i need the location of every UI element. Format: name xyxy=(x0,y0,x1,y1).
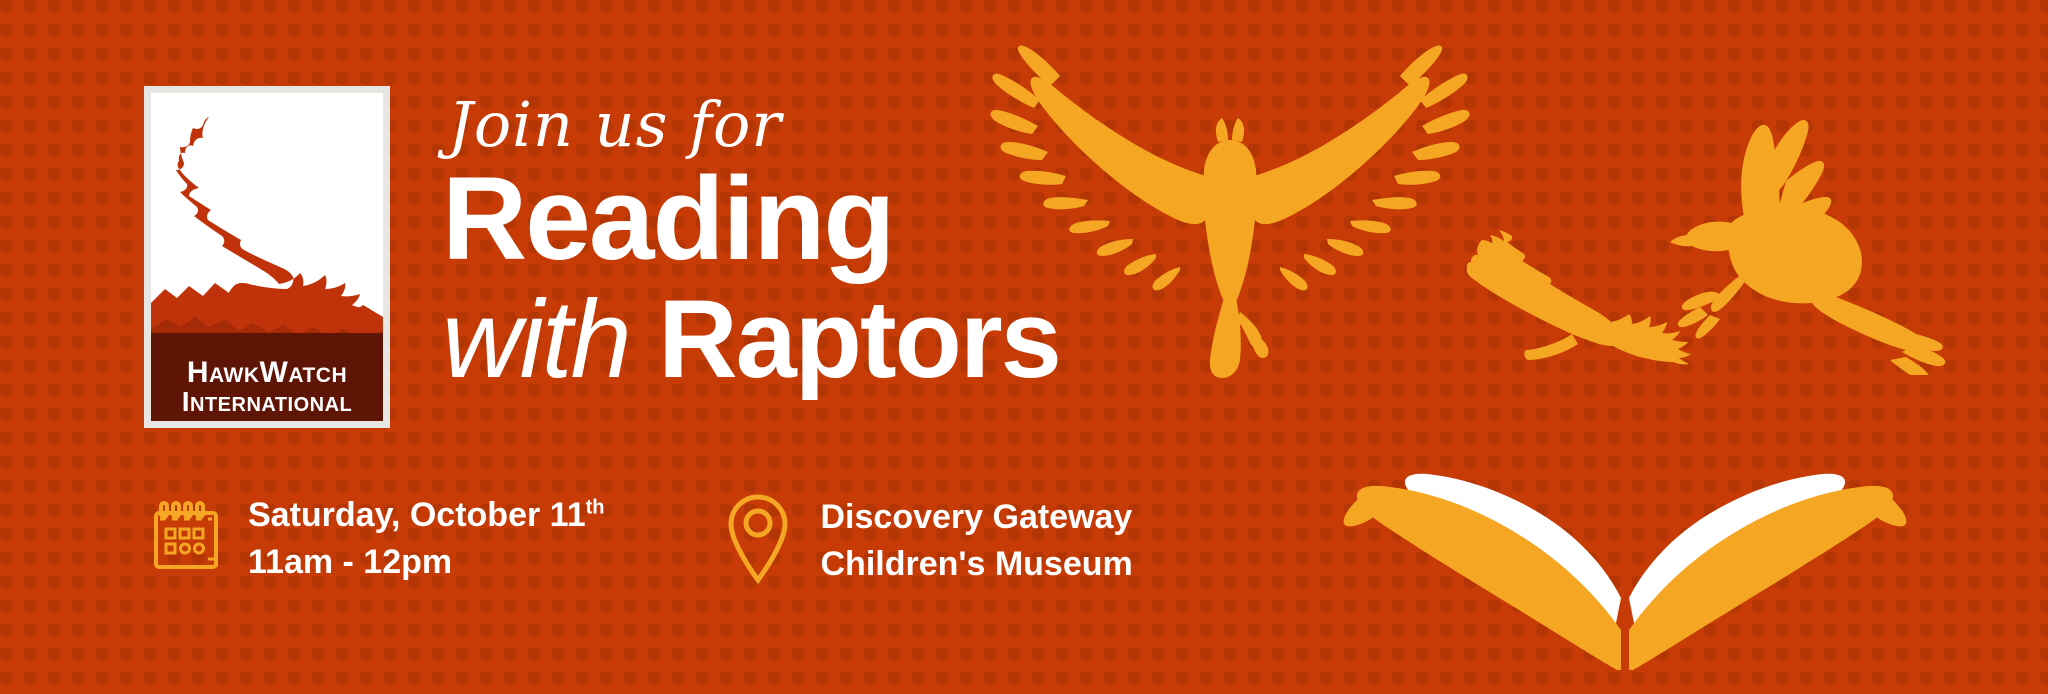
calendar-icon xyxy=(150,499,222,578)
title-line-1: Reading xyxy=(442,160,1060,278)
open-book-graphic xyxy=(1305,430,1945,670)
eyebrow-text: Join us for xyxy=(448,88,782,161)
date-day: Saturday, October 11 xyxy=(248,496,586,534)
location-text: Discovery Gateway Children's Museum xyxy=(821,494,1133,588)
location-line-2: Children's Museum xyxy=(821,541,1133,588)
logo-line-2: International xyxy=(151,388,383,417)
event-details: Saturday, October 11th 11am - 12pm Disco… xyxy=(150,492,1133,589)
location-line-1: Discovery Gateway xyxy=(821,494,1133,541)
eagle-landing-talons-silhouette xyxy=(1670,95,2010,375)
map-pin-icon xyxy=(725,492,791,589)
event-banner: HawkWatch International Join us for Read… xyxy=(0,0,2048,694)
logo-line-1: HawkWatch xyxy=(151,358,383,389)
title-word-raptors: Raptors xyxy=(658,278,1060,401)
date-text: Saturday, October 11th 11am - 12pm xyxy=(248,492,605,586)
location-detail: Discovery Gateway Children's Museum xyxy=(725,492,1133,589)
title-word-with: with xyxy=(442,278,630,401)
date-suffix: th xyxy=(586,497,605,519)
page-title: Reading with Raptors xyxy=(442,160,1060,401)
title-line-2: with Raptors xyxy=(442,278,1060,401)
logo-frame: HawkWatch International xyxy=(144,86,390,428)
hawkwatch-logo[interactable]: HawkWatch International xyxy=(144,86,390,428)
raptor-wings-spread-silhouette xyxy=(990,30,1470,390)
logo-panel: HawkWatch International xyxy=(151,93,383,421)
soaring-hawk-silhouette xyxy=(1460,228,1700,378)
date-line: Saturday, October 11th xyxy=(248,492,605,539)
time-line: 11am - 12pm xyxy=(248,539,605,586)
date-detail: Saturday, October 11th 11am - 12pm xyxy=(150,492,605,586)
logo-text: HawkWatch International xyxy=(151,358,383,417)
